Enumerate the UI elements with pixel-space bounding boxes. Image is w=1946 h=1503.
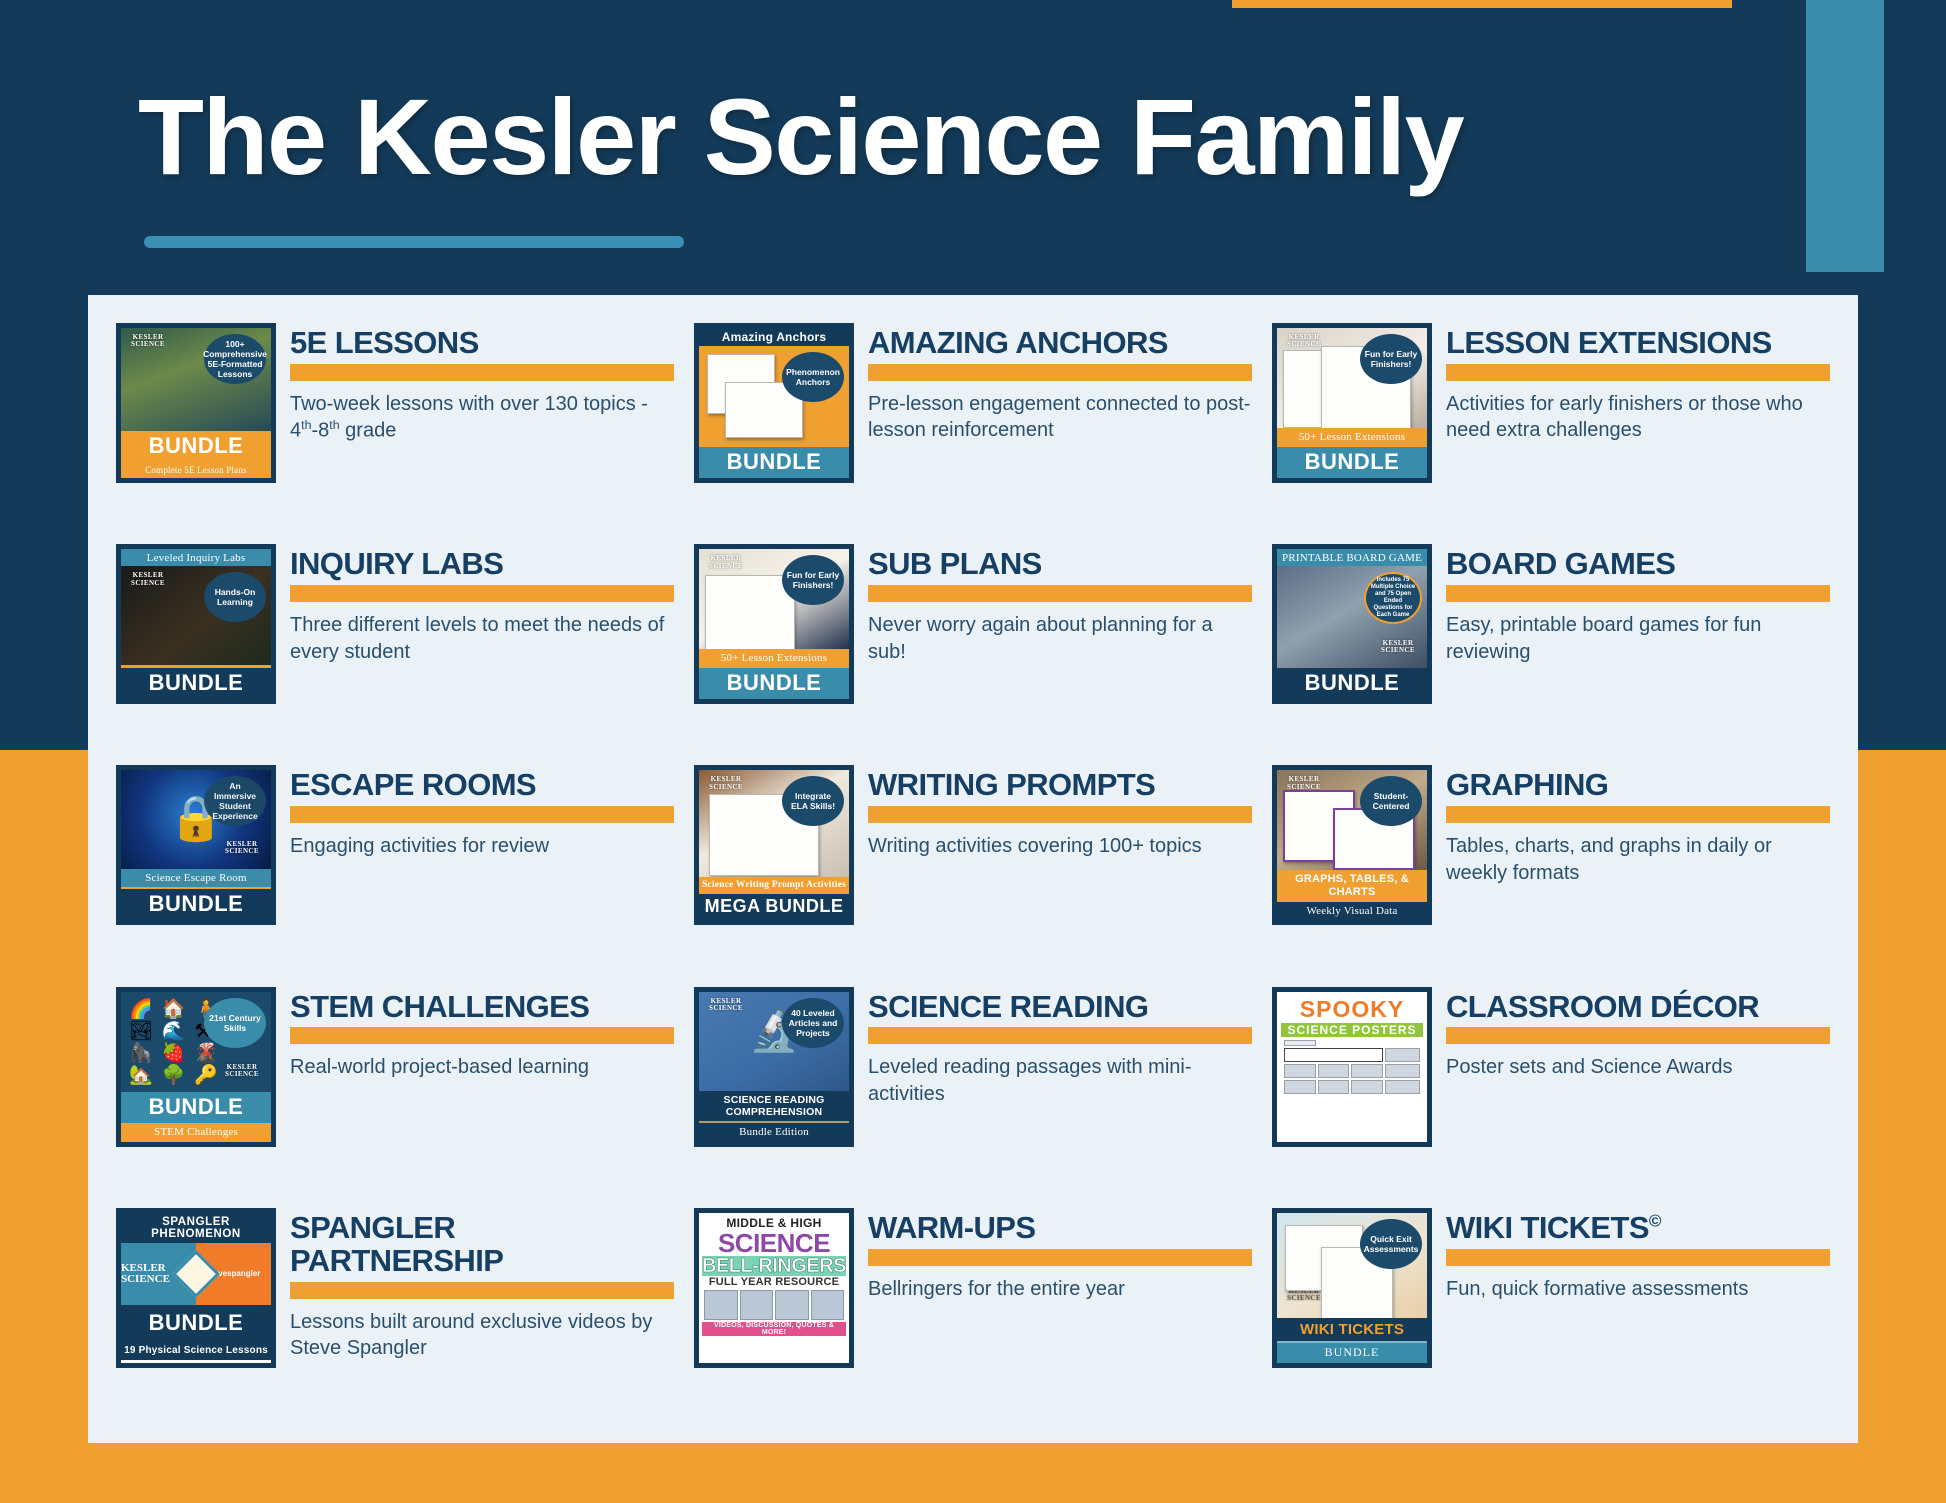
poster-thumbnail-grid (1281, 1037, 1423, 1097)
product-title: AMAZING ANCHORS (868, 327, 1252, 360)
thumbnail-artwork: KESLER SCIENCE Fun for Early Finishers! (1277, 328, 1427, 428)
product-card-lesson-extensions[interactable]: KESLER SCIENCE Fun for Early Finishers! … (1262, 319, 1840, 540)
thumbnail-banner: BUNDLE (1277, 447, 1427, 478)
thumbnail-banner: BUNDLE (1277, 668, 1427, 699)
bellringer-line-3: BELL-RINGERS (702, 1256, 846, 1276)
product-grid: KESLER SCIENCE 100+ Comprehensive 5E-For… (88, 295, 1858, 1443)
product-text-block: SPANGLER PARTNERSHIP Lessons built aroun… (290, 1208, 674, 1362)
product-thumbnail[interactable]: Leveled Inquiry Labs KESLER SCIENCE Hand… (116, 544, 276, 704)
product-title: GRAPHING (1446, 769, 1830, 802)
thumbnail-caption: GRAPHS, TABLES, & CHARTS (1277, 870, 1427, 901)
product-text-block: 5E LESSONS Two-week lessons with over 13… (290, 323, 674, 445)
product-thumbnail[interactable]: KESLER SCIENCE Fun for Early Finishers! … (1272, 323, 1432, 483)
product-text-block: SUB PLANS Never worry again about planni… (868, 544, 1252, 665)
thumbnail-caption: Science Writing Prompt Activities (699, 877, 849, 894)
product-text-block: LESSON EXTENSIONS Activities for early f… (1446, 323, 1830, 444)
kesler-science-logo-icon: KESLER SCIENCE (705, 555, 747, 577)
title-accent-bar (290, 806, 674, 823)
house-icon: 🏡 (129, 1066, 159, 1085)
product-title: SPANGLER PARTNERSHIP (290, 1212, 674, 1278)
thumbnail-badge: Quick Exit Assessments (1360, 1219, 1422, 1269)
product-text-block: SCIENCE READING Leveled reading passages… (868, 987, 1252, 1108)
thumbnail-caption: WIKI TICKETS (1277, 1318, 1427, 1343)
parachute-icon: 🌊 (162, 1022, 192, 1041)
product-title: STEM CHALLENGES (290, 991, 674, 1024)
product-card-graphing[interactable]: KESLER SCIENCE Student-Centered GRAPHS, … (1262, 761, 1840, 982)
product-description: Never worry again about planning for a s… (868, 612, 1252, 665)
product-title: INQUIRY LABS (290, 548, 674, 581)
thumbnail-banner: BUNDLE (121, 889, 271, 920)
thumbnail-banner: BUNDLE (121, 665, 271, 699)
thumbnail-artwork: 🌈 🏠 🧍 🏞 🌊 ⚒ 🦍 🍓 🌋 🏡 🌳 🔑 KESLER SCIEN (121, 992, 271, 1092)
thumbnail-artwork: 🔒 KESLER SCIENCE An Immersive Student Ex… (121, 770, 271, 868)
thumbnail-badge: 100+ Comprehensive 5E-Formatted Lessons (204, 334, 266, 384)
product-title: LESSON EXTENSIONS (1446, 327, 1830, 360)
product-text-block: CLASSROOM DÉCOR Poster sets and Science … (1446, 987, 1830, 1081)
product-description: Tables, charts, and graphs in daily or w… (1446, 833, 1830, 886)
thumbnail-top-label: Leveled Inquiry Labs (121, 549, 271, 566)
thumbnail-top-label: Amazing Anchors (699, 328, 849, 346)
spooky-title: SPOOKY (1281, 996, 1423, 1023)
product-thumbnail[interactable]: SPANGLER PHENOMENON KESLER SCIENCE steve… (116, 1208, 276, 1368)
bellringer-line-2: SCIENCE (702, 1230, 846, 1256)
product-description: Lessons built around exclusive videos by… (290, 1309, 674, 1362)
key-icon: 🔑 (194, 1066, 224, 1085)
product-description: Activities for early finishers or those … (1446, 391, 1830, 444)
product-title: WARM-UPS (868, 1212, 1252, 1245)
thumbnail-banner-sub: STEM Challenges (121, 1123, 271, 1142)
product-card-spangler-partnership[interactable]: SPANGLER PHENOMENON KESLER SCIENCE steve… (106, 1204, 684, 1425)
title-accent-bar (868, 364, 1252, 381)
volcano-icon: 🌋 (194, 1044, 224, 1063)
product-thumbnail[interactable]: KESLER SCIENCE Student-Centered GRAPHS, … (1272, 765, 1432, 925)
thumbnail-badge: An Immersive Student Experience (204, 776, 266, 826)
title-underline-rule (144, 236, 684, 248)
thumbnail-banner: BUNDLE (699, 668, 849, 699)
product-description: Pre-lesson engagement connected to post-… (868, 391, 1252, 444)
thumbnail-artwork: MIDDLE & HIGH SCIENCE BELL-RINGERS FULL … (699, 1213, 849, 1363)
thumbnail-artwork: KESLER SCIENCE Fun for Early Finishers! (699, 549, 849, 649)
title-accent-bar (1446, 1027, 1830, 1044)
product-thumbnail[interactable]: 🔒 KESLER SCIENCE An Immersive Student Ex… (116, 765, 276, 925)
thumbnail-artwork: KESLER SCIENCE Includes 75 Multiple Choi… (1277, 566, 1427, 668)
thumbnail-artwork: KESLER SCIENCE Integrate ELA Skills! (699, 770, 849, 876)
product-thumbnail[interactable]: MIDDLE & HIGH SCIENCE BELL-RINGERS FULL … (694, 1208, 854, 1368)
thumbnail-banner: Weekly Visual Data (1277, 902, 1427, 921)
product-card-science-reading[interactable]: KESLER SCIENCE 🔬 40 Leveled Articles and… (684, 983, 1262, 1204)
gorilla-icon: 🦍 (129, 1044, 159, 1063)
bellringer-thumbnail-grid (702, 1288, 846, 1322)
thumbnail-top-label: SPANGLER PHENOMENON (121, 1213, 271, 1243)
title-accent-bar (1446, 364, 1830, 381)
product-thumbnail[interactable]: KESLER SCIENCE Integrate ELA Skills! Sci… (694, 765, 854, 925)
thumbnail-artwork: SPOOKY SCIENCE POSTERS (1277, 992, 1427, 1142)
thumbnail-banner: BUNDLE (1277, 1343, 1427, 1363)
thumbnail-artwork: Phenomenon Anchors (699, 346, 849, 447)
product-thumbnail[interactable]: KESLER SCIENCE 🔬 40 Leveled Articles and… (694, 987, 854, 1147)
product-description: Three different levels to meet the needs… (290, 612, 674, 665)
thumbnail-badge: 40 Leveled Articles and Projects (782, 998, 844, 1048)
product-title: CLASSROOM DÉCOR (1446, 991, 1830, 1024)
product-text-block: GRAPHING Tables, charts, and graphs in d… (1446, 765, 1830, 886)
thumbnail-caption: SCIENCE READING COMPREHENSION (699, 1091, 849, 1123)
product-text-block: STEM CHALLENGES Real-world project-based… (290, 987, 674, 1081)
rocket-icon: 🌈 (129, 1000, 159, 1019)
spooky-subtitle: SCIENCE POSTERS (1281, 1023, 1423, 1037)
product-title: SCIENCE READING (868, 991, 1252, 1024)
product-thumbnail[interactable]: PRINTABLE BOARD GAME KESLER SCIENCE Incl… (1272, 544, 1432, 704)
kesler-science-logo-icon: KESLER SCIENCE (127, 572, 169, 594)
thumbnail-top-label: PRINTABLE BOARD GAME (1277, 549, 1427, 566)
product-title: WIKI TICKETS© (1446, 1212, 1830, 1245)
product-text-block: AMAZING ANCHORS Pre-lesson engagement co… (868, 323, 1252, 444)
title-accent-bar (868, 1027, 1252, 1044)
title-accent-bar (1446, 1249, 1830, 1266)
product-description: Leveled reading passages with mini-activ… (868, 1054, 1252, 1107)
page-header: The Kesler Science Family (0, 0, 1946, 300)
product-description: Fun, quick formative assessments (1446, 1276, 1830, 1303)
copyright-icon: © (1649, 1211, 1661, 1230)
thumbnail-caption: 50+ Lesson Extensions (699, 649, 849, 668)
product-text-block: ESCAPE ROOMS Engaging activities for rev… (290, 765, 674, 859)
kesler-science-logo-icon: KESLER SCIENCE (1283, 1288, 1325, 1310)
title-accent-bar (290, 1027, 674, 1044)
product-title: 5E LESSONS (290, 327, 674, 360)
thumbnail-artwork: KESLER SCIENCE Student-Centered (1277, 770, 1427, 870)
product-title: BOARD GAMES (1446, 548, 1830, 581)
thumbnail-banner: BUNDLE (121, 1305, 271, 1343)
kesler-science-logo-icon: KESLER SCIENCE (127, 334, 169, 356)
product-thumbnail[interactable]: KESLER SCIENCE 100+ Comprehensive 5E-For… (116, 323, 276, 483)
thumbnail-badge: Fun for Early Finishers! (1360, 334, 1422, 384)
thumbnail-banner: Bundle Edition (699, 1123, 849, 1142)
thumbnail-banner: BUNDLE (699, 447, 849, 478)
product-text-block: BOARD GAMES Easy, printable board games … (1446, 544, 1830, 665)
product-description: Writing activities covering 100+ topics (868, 833, 1252, 860)
product-card-escape-rooms[interactable]: 🔒 KESLER SCIENCE An Immersive Student Ex… (106, 761, 684, 982)
products-panel: KESLER SCIENCE 100+ Comprehensive 5E-For… (88, 295, 1858, 1443)
product-thumbnail[interactable]: 🌈 🏠 🧍 🏞 🌊 ⚒ 🦍 🍓 🌋 🏡 🌳 🔑 KESLER SCIEN (116, 987, 276, 1147)
bellringer-line-4: FULL YEAR RESOURCE (702, 1276, 846, 1288)
page-title: The Kesler Science Family (138, 78, 1463, 197)
thumbnail-caption: 50+ Lesson Extensions (1277, 428, 1427, 447)
product-description: Engaging activities for review (290, 833, 674, 860)
product-thumbnail[interactable]: Amazing Anchors Phenomenon Anchors BUNDL… (694, 323, 854, 483)
product-card-classroom-decor[interactable]: SPOOKY SCIENCE POSTERS CLASSROOM DÉCOR P… (1262, 983, 1840, 1204)
product-thumbnail[interactable]: KESLER SCIENCE Fun for Early Finishers! … (694, 544, 854, 704)
product-thumbnail[interactable]: SPOOKY SCIENCE POSTERS (1272, 987, 1432, 1147)
title-accent-bar (868, 585, 1252, 602)
thumbnail-artwork: KESLER SCIENCE Quick Exit Assessments (1277, 1213, 1427, 1318)
product-card-sub-plans[interactable]: KESLER SCIENCE Fun for Early Finishers! … (684, 540, 1262, 761)
product-text-block: INQUIRY LABS Three different levels to m… (290, 544, 674, 665)
thumbnail-banner: MEGA BUNDLE (699, 894, 849, 921)
product-description: Poster sets and Science Awards (1446, 1054, 1830, 1081)
title-accent-bar (1446, 806, 1830, 823)
birdhouse-icon: 🏠 (162, 1000, 192, 1019)
product-description: Real-world project-based learning (290, 1054, 674, 1081)
product-card-5e-lessons[interactable]: KESLER SCIENCE 100+ Comprehensive 5E-For… (106, 319, 684, 540)
title-accent-bar (1446, 585, 1830, 602)
product-description: Bellringers for the entire year (868, 1276, 1252, 1303)
product-title: SUB PLANS (868, 548, 1252, 581)
thumbnail-artwork: KESLER SCIENCE 100+ Comprehensive 5E-For… (121, 328, 271, 431)
title-accent-bar (868, 806, 1252, 823)
title-accent-bar (290, 1282, 674, 1299)
product-card-wiki-tickets[interactable]: KESLER SCIENCE Quick Exit Assessments WI… (1262, 1204, 1840, 1425)
product-card-warm-ups[interactable]: MIDDLE & HIGH SCIENCE BELL-RINGERS FULL … (684, 1204, 1262, 1425)
product-text-block: WIKI TICKETS© Fun, quick formative asses… (1446, 1208, 1830, 1302)
product-text-block: WRITING PROMPTS Writing activities cover… (868, 765, 1252, 859)
product-thumbnail[interactable]: KESLER SCIENCE Quick Exit Assessments WI… (1272, 1208, 1432, 1368)
product-card-stem-challenges[interactable]: 🌈 🏠 🧍 🏞 🌊 ⚒ 🦍 🍓 🌋 🏡 🌳 🔑 KESLER SCIEN (106, 983, 684, 1204)
product-card-amazing-anchors[interactable]: Amazing Anchors Phenomenon Anchors BUNDL… (684, 319, 1262, 540)
kesler-science-logo-icon: KESLER SCIENCE (221, 841, 263, 863)
thumbnail-badge: Phenomenon Anchors (782, 352, 844, 402)
product-description: Easy, printable board games for fun revi… (1446, 612, 1830, 665)
thumbnail-badge: 21st Century Skills (204, 998, 266, 1048)
thumbnail-badge: Fun for Early Finishers! (782, 555, 844, 605)
tree-icon: 🌳 (162, 1066, 192, 1085)
thumbnail-banner: BUNDLE (121, 1092, 271, 1123)
title-accent-bar (290, 364, 674, 381)
title-accent-bar (868, 1249, 1252, 1266)
product-card-inquiry-labs[interactable]: Leveled Inquiry Labs KESLER SCIENCE Hand… (106, 540, 684, 761)
product-card-writing-prompts[interactable]: KESLER SCIENCE Integrate ELA Skills! Sci… (684, 761, 1262, 982)
product-title: WRITING PROMPTS (868, 769, 1252, 802)
strawberry-icon: 🍓 (162, 1044, 192, 1063)
title-accent-bar (290, 585, 674, 602)
kesler-science-logo-icon: KESLER SCIENCE (221, 1064, 263, 1086)
product-title: ESCAPE ROOMS (290, 769, 674, 802)
thumbnail-banner-sub: Complete 5E Lesson Plans (121, 462, 271, 478)
bellringer-footer: VIDEOS, DISCUSSION, QUOTES & MORE! (702, 1322, 846, 1336)
product-description: Two-week lessons with over 130 topics - … (290, 391, 674, 445)
terrarium-icon: 🏞 (129, 1022, 159, 1041)
thumbnail-badge: Hands-On Learning (204, 572, 266, 622)
kesler-science-logo-icon: KESLER SCIENCE (705, 998, 747, 1020)
thumbnail-caption: Science Escape Room (121, 869, 271, 890)
thumbnail-artwork: KESLER SCIENCE 🔬 40 Leveled Articles and… (699, 992, 849, 1091)
thumbnail-banner-sub: 19 Physical Science Lessons (121, 1342, 271, 1363)
partnership-logos: KESLER SCIENCE stevespangler (121, 1243, 271, 1305)
product-text-block: WARM-UPS Bellringers for the entire year (868, 1208, 1252, 1302)
thumbnail-artwork: KESLER SCIENCE Hands-On Learning (121, 566, 271, 665)
thumbnail-badge: Includes 75 Multiple Choice and 75 Open … (1364, 572, 1422, 624)
product-card-board-games[interactable]: PRINTABLE BOARD GAME KESLER SCIENCE Incl… (1262, 540, 1840, 761)
kesler-science-logo-icon: KESLER SCIENCE (1377, 640, 1419, 662)
thumbnail-banner: BUNDLE (121, 431, 271, 462)
